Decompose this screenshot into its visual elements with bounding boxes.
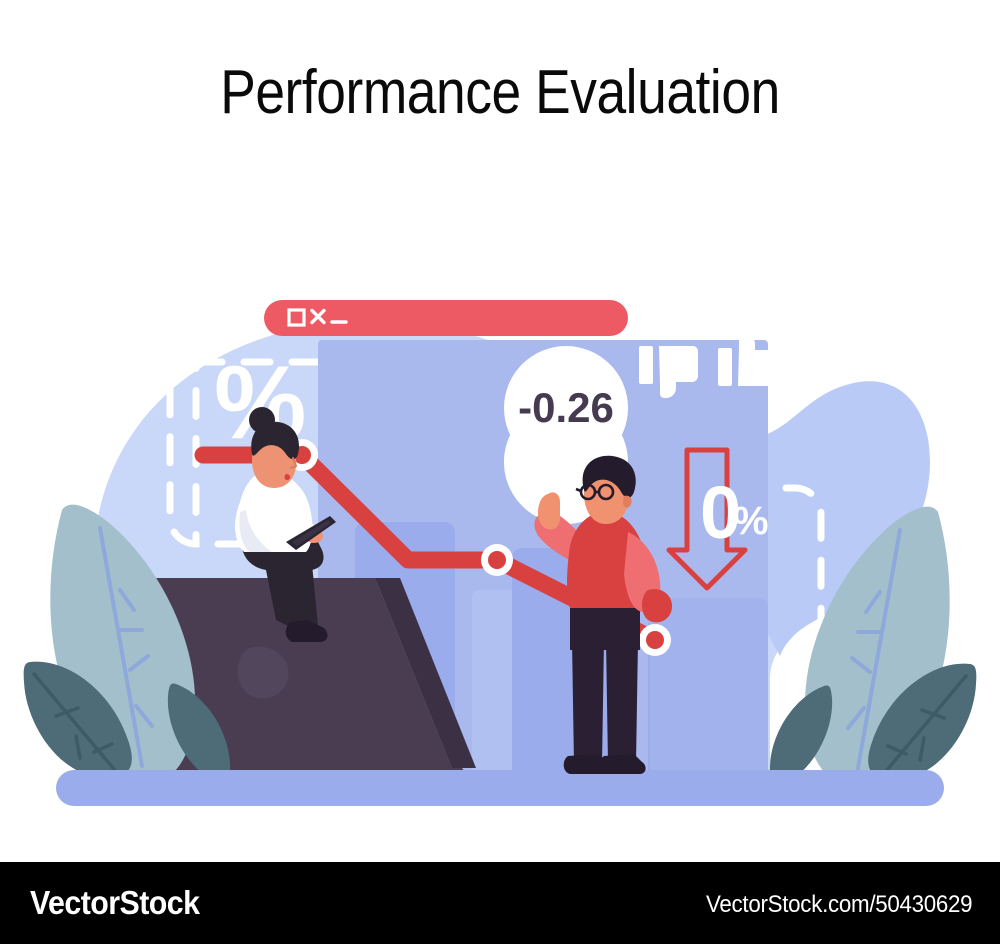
vectorstock-logo: VectorStock <box>30 884 199 922</box>
line-chart-node-3 <box>639 624 671 656</box>
page-title: Performance Evaluation <box>70 56 930 130</box>
zero-percent-unit: % <box>733 499 769 543</box>
man-leg-right <box>606 640 638 764</box>
illustration-page: Performance Evaluation <box>0 0 1000 944</box>
ground-bar <box>56 770 944 806</box>
callout-value: -0.26 <box>518 384 614 431</box>
woman-hair-bun <box>249 407 275 433</box>
footer-bar: VectorStock VectorStock.com/50430629 <box>0 862 1000 944</box>
man-pants <box>570 602 640 650</box>
illustration-canvas: % 0 % <box>0 150 1000 860</box>
man-leg-left <box>572 640 604 764</box>
bar-front-right <box>650 598 768 778</box>
window-titlebar[interactable] <box>264 300 628 336</box>
line-chart-node-2 <box>481 544 513 576</box>
vectorstock-url: VectorStock.com/50430629 <box>706 891 972 919</box>
